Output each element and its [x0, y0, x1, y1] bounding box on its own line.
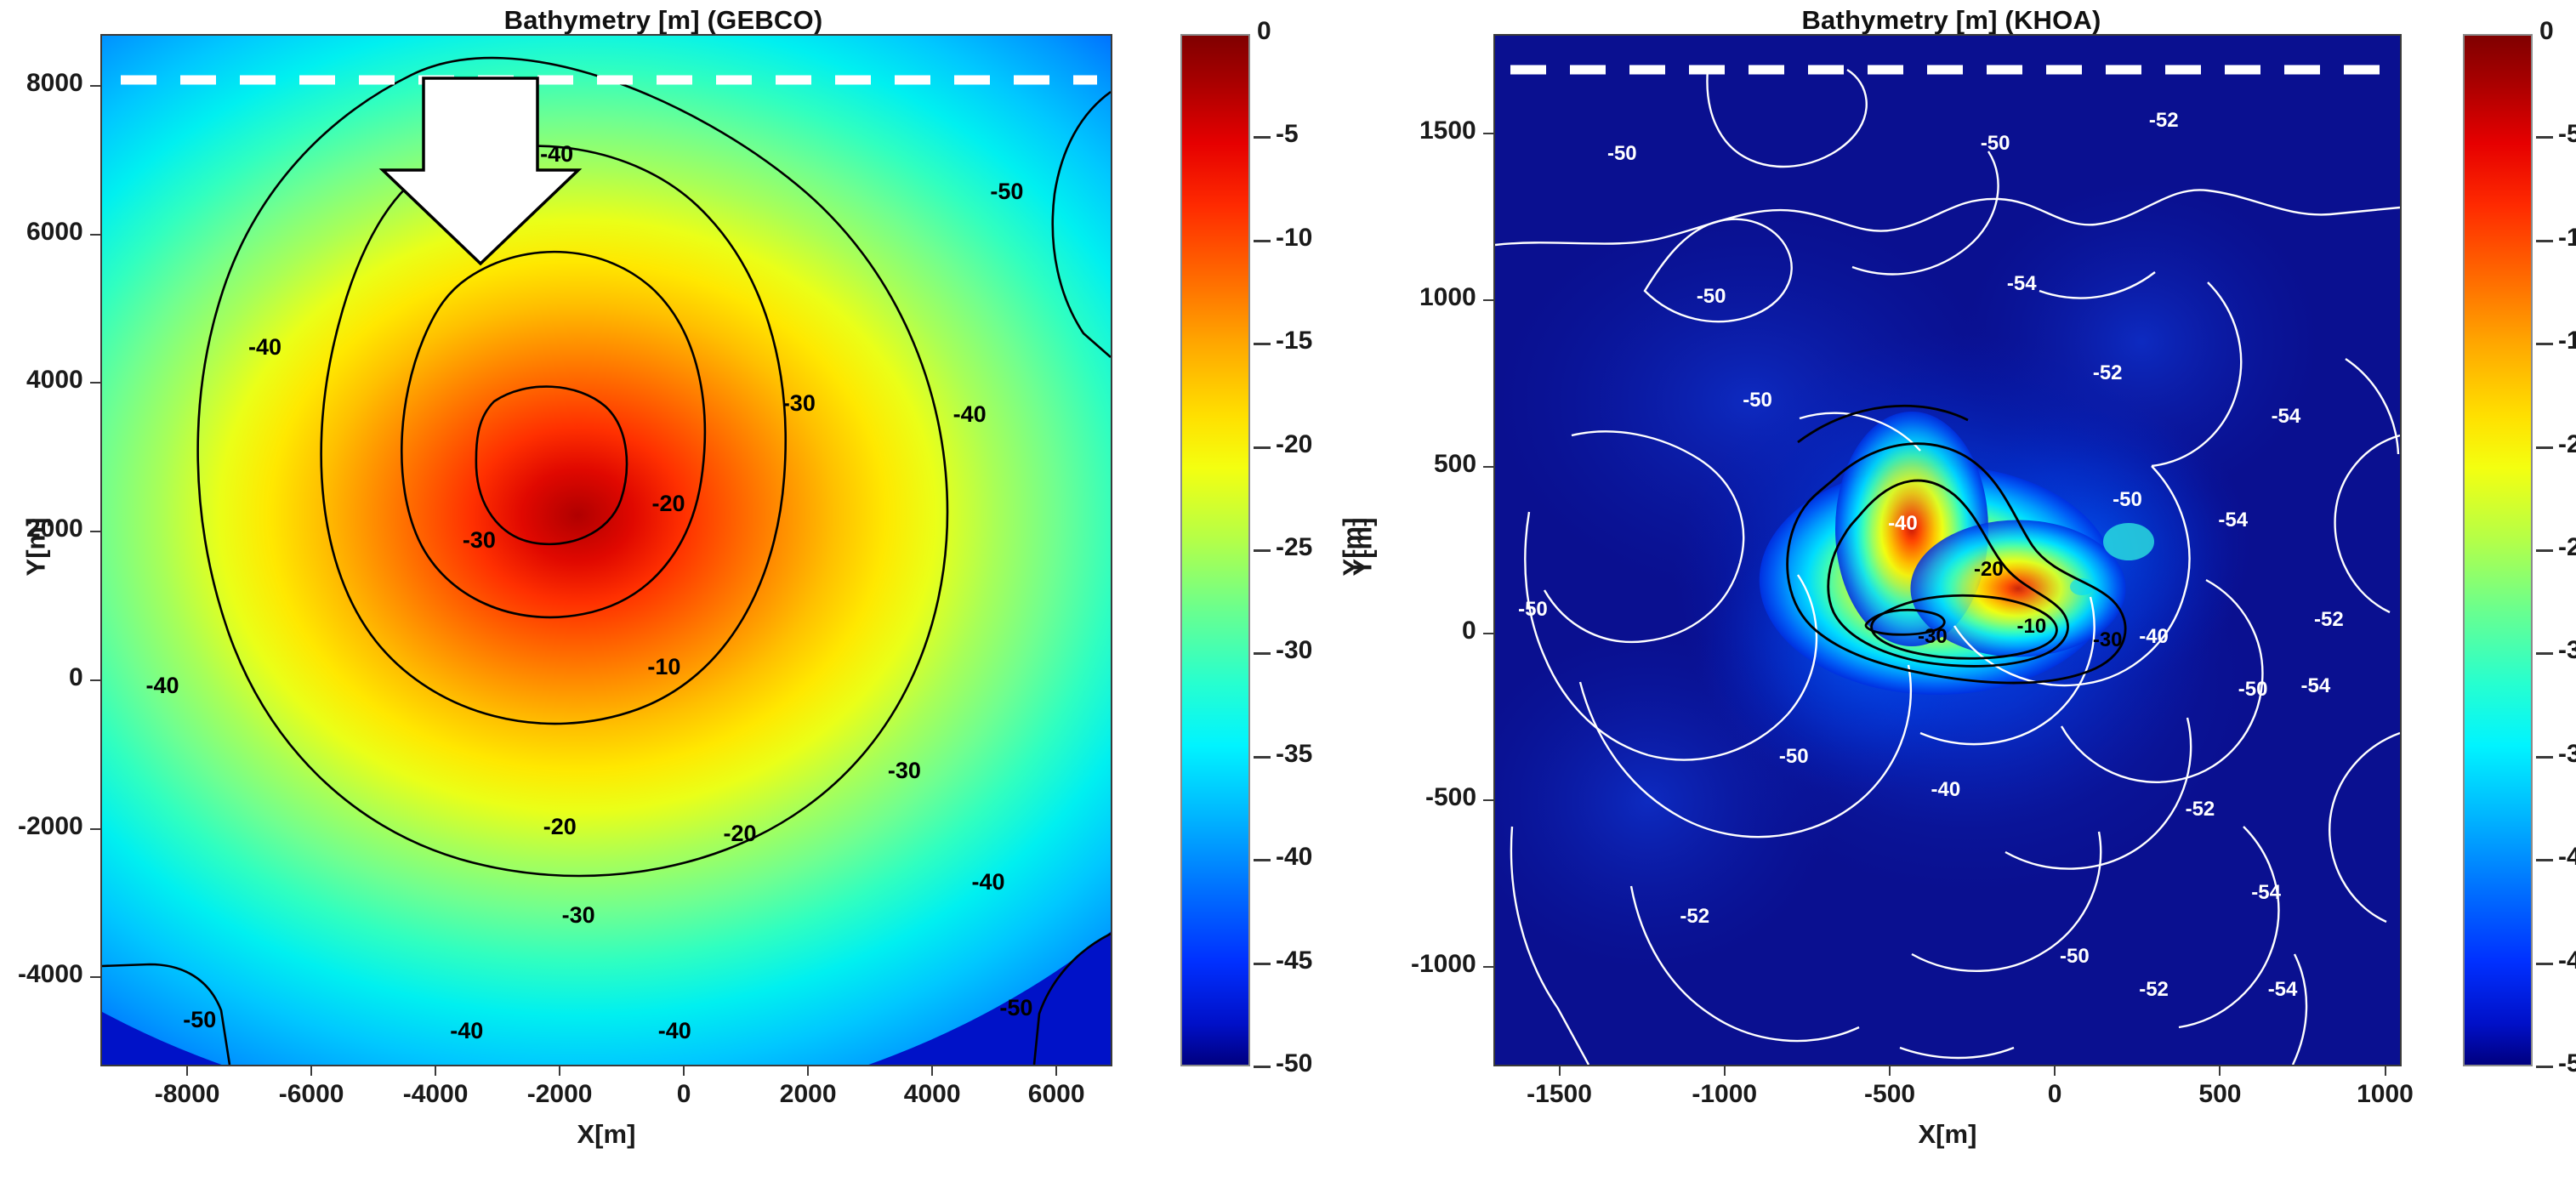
panel-khoa-colorbar[interactable]: [2463, 34, 2533, 1066]
y-tick-label: 500: [1434, 450, 1476, 479]
y-tick-label: 2000: [26, 514, 83, 543]
colorbar-tick-label: -40: [2558, 843, 2576, 872]
contour-label: -40: [971, 869, 1004, 895]
y-tick-label: -2000: [18, 812, 83, 841]
panel-gebco: Bathymetry [m] (GEBCO) Y[m] X[m]: [0, 0, 1327, 1188]
colorbar-tick-label: -25: [1276, 533, 1312, 562]
y-tick-mark: [1483, 299, 1493, 301]
y-tick-label: 4000: [26, 366, 83, 395]
contour-label: -40: [248, 334, 281, 361]
contour-label: -50: [2238, 678, 2268, 702]
contour-label: -20: [723, 821, 756, 847]
contour-label: -30: [562, 902, 595, 929]
y-tick-mark: [90, 531, 100, 532]
contour-label: -50: [999, 995, 1032, 1021]
x-tick-mark: [2385, 1066, 2386, 1076]
colorbar-tick-mark: [1254, 549, 1271, 552]
colorbar-tick-label: -5: [1276, 120, 1299, 149]
contour-label: -40: [146, 673, 179, 699]
panel-khoa-ylabel: Y[m]: [1347, 518, 1378, 577]
colorbar-tick-label: -15: [2558, 327, 2576, 355]
x-tick-label: 0: [2048, 1080, 2062, 1109]
contour-label: -50: [2060, 945, 2090, 969]
contour-label: -50: [1779, 745, 1809, 769]
contour-label: -40: [450, 1018, 483, 1044]
colorbar-tick-mark: [2536, 859, 2553, 861]
y-tick-label: 6000: [26, 218, 83, 247]
contour-label: -40: [953, 401, 987, 428]
panel-gebco-xlabel: X[m]: [577, 1119, 636, 1150]
x-tick-mark: [559, 1066, 560, 1076]
x-tick-mark: [1055, 1066, 1057, 1076]
colorbar-tick-mark: [2536, 446, 2553, 449]
y-tick-mark: [90, 679, 100, 681]
y-tick-mark: [90, 828, 100, 830]
contour-label: -52: [2314, 608, 2344, 632]
contour-label: -30: [782, 390, 816, 417]
x-tick-label: 6000: [1028, 1080, 1085, 1109]
colorbar-tick-mark: [1254, 136, 1271, 139]
contour-label: -30: [888, 758, 921, 784]
x-tick-mark: [1724, 1066, 1726, 1076]
x-tick-label: 1000: [2357, 1080, 2414, 1109]
contour-label: -54: [2301, 674, 2331, 698]
colorbar-tick-label: -35: [1276, 740, 1312, 769]
contour-label: -10: [2017, 615, 2047, 639]
colorbar-tick-mark: [1254, 756, 1271, 759]
panel-khoa-axes[interactable]: [1493, 34, 2402, 1066]
panel-khoa-xlabel: X[m]: [1919, 1119, 1977, 1150]
x-tick-label: -1000: [1692, 1080, 1757, 1109]
y-tick-label: 1000: [1419, 283, 1476, 312]
colorbar-tick-label: -15: [1276, 327, 1312, 355]
colorbar-tick-mark: [2536, 756, 2553, 759]
y-tick-label: -500: [1425, 783, 1476, 812]
x-tick-mark: [1559, 1066, 1561, 1076]
colorbar-tick-mark: [1254, 652, 1271, 655]
contour-label: -30: [463, 527, 496, 554]
y-tick-mark: [1483, 133, 1493, 134]
contour-label: -30: [1918, 625, 1948, 649]
x-tick-label: 0: [677, 1080, 691, 1109]
y-tick-mark: [90, 976, 100, 978]
contour-label: -20: [543, 814, 577, 840]
colorbar-tick-mark: [2536, 136, 2553, 139]
contour-label: -52: [2186, 798, 2215, 821]
colorbar-tick-label: -45: [1276, 946, 1312, 975]
colorbar-tick-label: -20: [2558, 430, 2576, 459]
colorbar-tick-mark: [1254, 240, 1271, 242]
contour-label: -50: [1518, 598, 1548, 622]
x-tick-label: -4000: [403, 1080, 469, 1109]
contour-label: -54: [2251, 881, 2281, 905]
x-tick-label: 2000: [780, 1080, 837, 1109]
colorbar-tick-label: -50: [2558, 1049, 2576, 1078]
contour-label: -54: [2272, 405, 2301, 429]
colorbar-tick-label: -30: [1276, 636, 1312, 665]
colorbar-tick-mark: [2536, 549, 2553, 552]
colorbar-tick-label: -25: [2558, 533, 2576, 562]
contour-label: -50: [1743, 389, 1772, 412]
contour-label: -54: [2007, 272, 2037, 296]
y-tick-label: 0: [69, 663, 83, 692]
colorbar-tick-mark: [2536, 343, 2553, 345]
colorbar-tick-mark: [2536, 1066, 2553, 1068]
contour-label: -52: [2149, 109, 2179, 133]
y-tick-label: 1500: [1419, 117, 1476, 145]
y-tick-mark: [1483, 966, 1493, 968]
contour-label: -50: [1697, 285, 1726, 309]
contour-label: -50: [1981, 132, 2010, 156]
contour-label: -30: [2093, 628, 2123, 652]
bathymetry-figure: Bathymetry [m] (GEBCO) Y[m] X[m]: [0, 0, 2576, 1188]
colorbar-tick-mark: [1254, 446, 1271, 449]
x-tick-label: -2000: [527, 1080, 593, 1109]
colorbar-tick-label: -20: [1276, 430, 1312, 459]
x-tick-mark: [683, 1066, 685, 1076]
x-tick-label: -6000: [279, 1080, 344, 1109]
contour-label: -20: [652, 491, 685, 517]
x-tick-mark: [2054, 1066, 2056, 1076]
x-tick-label: -1500: [1527, 1080, 1592, 1109]
contour-label: -20: [1974, 558, 2004, 582]
colorbar-tick-mark: [1254, 963, 1271, 965]
x-tick-mark: [310, 1066, 312, 1076]
colorbar-tick-label: -10: [2558, 224, 2576, 253]
colorbar-tick-mark: [2536, 652, 2553, 655]
contour-label: -54: [2268, 978, 2298, 1002]
x-tick-mark: [931, 1066, 933, 1076]
contour-label: -50: [183, 1007, 216, 1033]
colorbar-tick-label: -35: [2558, 740, 2576, 769]
colorbar-tick-label: 0: [1257, 17, 1271, 46]
y-tick-mark: [90, 382, 100, 384]
y-tick-label: -4000: [18, 960, 83, 989]
colorbar-tick-label: -45: [2558, 946, 2576, 975]
y-tick-mark: [90, 85, 100, 87]
x-tick-mark: [186, 1066, 188, 1076]
colorbar-tick-label: -30: [2558, 636, 2576, 665]
contour-label: -40: [2139, 625, 2169, 649]
y-tick-mark: [90, 234, 100, 236]
contour-label: -40: [1931, 778, 1961, 802]
colorbar-tick-mark: [2536, 240, 2553, 242]
panel-gebco-title: Bathymetry [m] (GEBCO): [0, 5, 1327, 36]
x-tick-label: -500: [1864, 1080, 1915, 1109]
x-tick-label: 4000: [904, 1080, 961, 1109]
panel-gebco-axes[interactable]: [100, 34, 1112, 1066]
y-tick-label: -1000: [1411, 950, 1476, 979]
panel-gebco-colorbar[interactable]: [1180, 34, 1250, 1066]
y-tick-mark: [1483, 466, 1493, 468]
colorbar-tick-mark: [2536, 963, 2553, 965]
colorbar-tick-mark: [1254, 1066, 1271, 1068]
colorbar-tick-mark: [1254, 859, 1271, 861]
x-tick-mark: [1889, 1066, 1891, 1076]
colorbar-tick-label: 0: [2539, 17, 2554, 46]
contour-label: -52: [2093, 361, 2123, 385]
contour-label: -10: [647, 654, 680, 680]
contour-label: -54: [2218, 509, 2248, 532]
x-tick-mark: [2219, 1066, 2221, 1076]
contour-label: -40: [1888, 512, 1918, 536]
colorbar-tick-label: -10: [1276, 224, 1312, 253]
contour-label: -40: [658, 1018, 691, 1044]
contour-label: -52: [2139, 978, 2169, 1002]
y-tick-mark: [1483, 799, 1493, 801]
contour-label: -50: [1607, 142, 1637, 166]
y-tick-mark: [1483, 633, 1493, 634]
contour-label: -50: [2113, 488, 2142, 512]
x-tick-label: -8000: [155, 1080, 220, 1109]
contour-label: -50: [990, 179, 1023, 205]
contour-label: -40: [540, 141, 573, 168]
x-tick-mark: [807, 1066, 809, 1076]
colorbar-tick-label: -5: [2558, 120, 2576, 149]
colorbar-tick-label: -50: [1276, 1049, 1312, 1078]
panel-khoa-title: Bathymetry [m] (KHOA): [1327, 5, 2576, 36]
panel-khoa: Bathymetry [m] (KHOA) Y[m] X[m]: [1327, 0, 2576, 1188]
y-tick-label: 8000: [26, 69, 83, 98]
contour-label: -52: [1680, 905, 1709, 929]
x-tick-label: 500: [2198, 1080, 2241, 1109]
colorbar-tick-label: -40: [1276, 843, 1312, 872]
y-tick-label: 0: [1462, 617, 1476, 645]
colorbar-tick-mark: [1254, 343, 1271, 345]
x-tick-mark: [435, 1066, 436, 1076]
